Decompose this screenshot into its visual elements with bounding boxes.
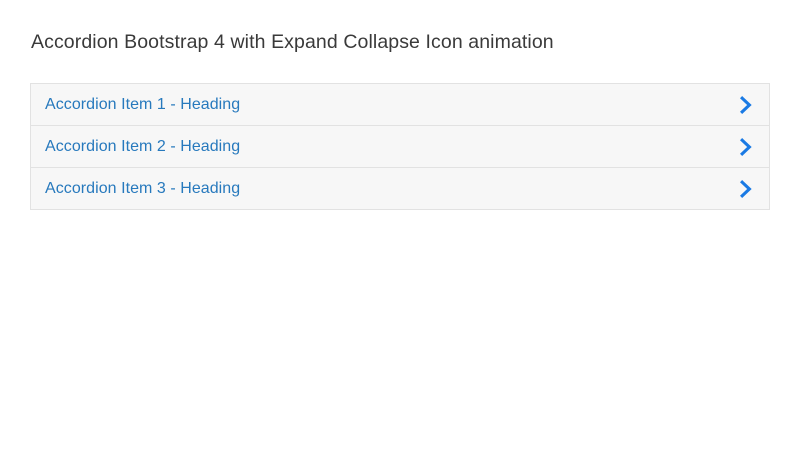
accordion-header-2[interactable]: Accordion Item 2 - Heading <box>31 126 769 167</box>
page-root: Accordion Bootstrap 4 with Expand Collap… <box>0 0 800 450</box>
page-empty-area <box>0 215 800 450</box>
chevron-right-icon[interactable] <box>737 95 755 115</box>
accordion-item-label-2[interactable]: Accordion Item 2 - Heading <box>45 137 240 157</box>
accordion-item-label-1[interactable]: Accordion Item 1 - Heading <box>45 95 240 115</box>
accordion-item-label-3[interactable]: Accordion Item 3 - Heading <box>45 179 240 199</box>
accordion-card: Accordion Item 2 - Heading <box>30 125 770 167</box>
chevron-right-icon[interactable] <box>737 137 755 157</box>
accordion-card: Accordion Item 3 - Heading <box>30 167 770 210</box>
accordion-card: Accordion Item 1 - Heading <box>30 83 770 125</box>
accordion-header-3[interactable]: Accordion Item 3 - Heading <box>31 168 769 209</box>
chevron-right-icon[interactable] <box>737 179 755 199</box>
page-title: Accordion Bootstrap 4 with Expand Collap… <box>31 30 554 54</box>
accordion-header-1[interactable]: Accordion Item 1 - Heading <box>31 84 769 125</box>
accordion: Accordion Item 1 - Heading Accordion Ite… <box>30 83 770 210</box>
